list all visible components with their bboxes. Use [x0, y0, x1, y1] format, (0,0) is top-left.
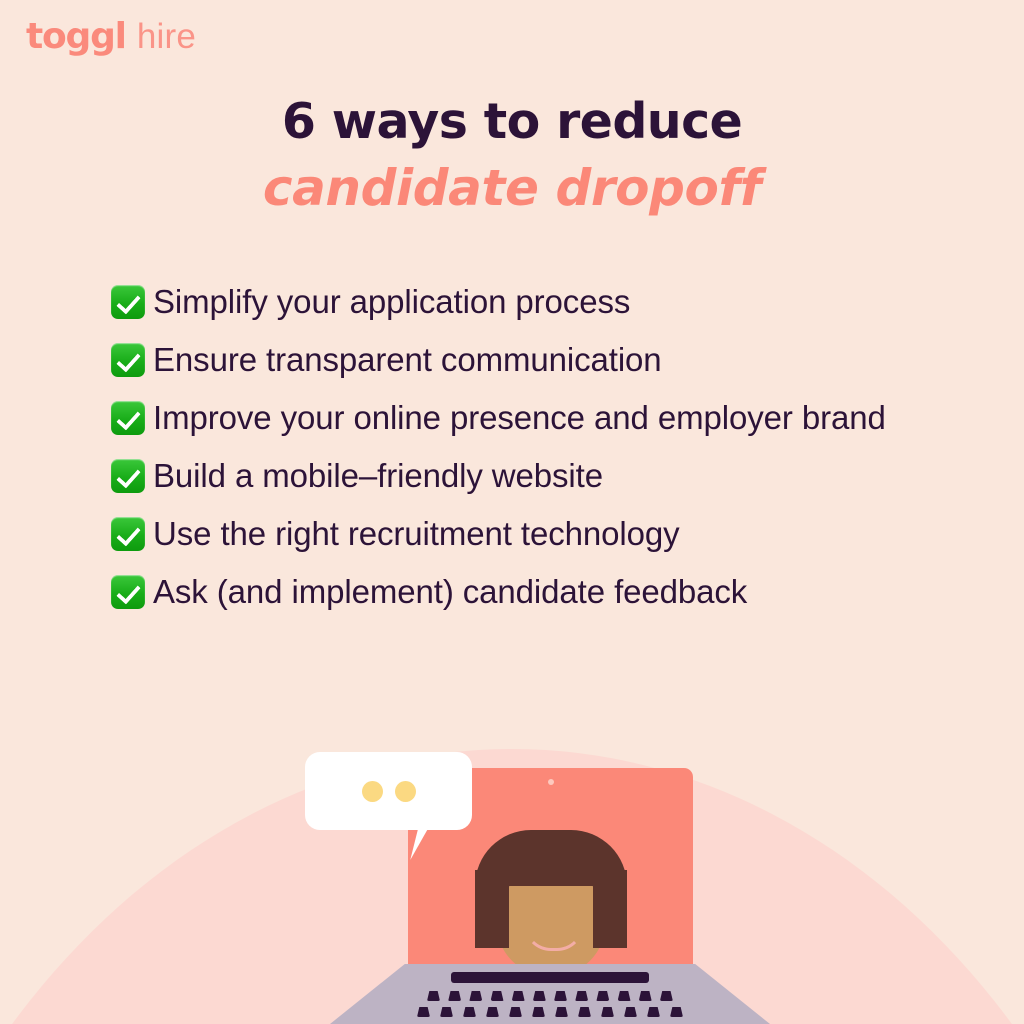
list-item-label: Use the right recruitment technology: [153, 515, 680, 552]
keyboard-key: [469, 991, 482, 1001]
webcam-dot-icon: [548, 779, 554, 785]
poster-canvas: toggl hire 6 ways to reduce candidate dr…: [0, 0, 1024, 1024]
white-check-mark-icon: [111, 517, 145, 551]
keyboard-key: [463, 1007, 476, 1017]
hair-side-left-shape: [475, 870, 509, 948]
white-check-mark-icon: [111, 343, 145, 377]
keyboard-key: [512, 991, 525, 1001]
toggl-hire-logo[interactable]: toggl hire: [26, 19, 196, 55]
keyboard-row: [427, 991, 673, 1001]
keyboard-key: [486, 1007, 499, 1017]
list-item: Ask (and implement) candidate feedback: [111, 573, 951, 612]
list-item: Build a mobile–friendly website: [111, 457, 951, 496]
keyboard-key: [509, 1007, 522, 1017]
keyboard-key: [448, 991, 461, 1001]
keyboard-key: [440, 1007, 453, 1017]
keyboard-key: [596, 991, 609, 1001]
keyboard-key: [554, 991, 567, 1001]
keyboard-key: [639, 991, 652, 1001]
keyboard-key: [624, 1007, 637, 1017]
keyboard-key: [533, 991, 546, 1001]
candidate-avatar: [475, 830, 627, 948]
keyboard-key: [670, 1007, 683, 1017]
hair-side-right-shape: [593, 870, 627, 948]
keyboard-key: [578, 1007, 591, 1017]
keyboard-key: [417, 1007, 430, 1017]
keyboard-key: [491, 991, 504, 1001]
keyboard-key: [427, 991, 440, 1001]
white-check-mark-icon: [111, 285, 145, 319]
list-item-label: Improve your online presence and employe…: [153, 399, 886, 436]
typing-dot-icon: [395, 781, 416, 802]
list-item: Simplify your application process: [111, 283, 951, 322]
logo-wordmark-toggl: toggl: [26, 19, 126, 55]
typing-dot-icon: [362, 781, 383, 802]
keyboard-key: [601, 1007, 614, 1017]
white-check-mark-icon: [111, 575, 145, 609]
checklist: Simplify your application process Ensure…: [111, 283, 951, 612]
title-line-accent: candidate dropoff: [0, 156, 1024, 221]
list-item: Improve your online presence and employe…: [111, 399, 951, 438]
typing-dots: [305, 752, 472, 830]
list-item-label: Ensure transparent communication: [153, 341, 662, 378]
list-item-label: Build a mobile–friendly website: [153, 457, 603, 494]
list-item-label: Simplify your application process: [153, 283, 630, 320]
list-item: Use the right recruitment technology: [111, 515, 951, 554]
keyboard-key: [532, 1007, 545, 1017]
keyboard-row: [417, 1007, 683, 1017]
white-check-mark-icon: [111, 459, 145, 493]
keyboard-key: [660, 991, 673, 1001]
keyboard-key: [555, 1007, 568, 1017]
keyboard-key: [618, 991, 631, 1001]
page-title: 6 ways to reduce candidate dropoff: [0, 92, 1024, 221]
keyboard-spacebar: [451, 972, 649, 983]
list-item: Ensure transparent communication: [111, 341, 951, 380]
title-line-primary: 6 ways to reduce: [0, 92, 1024, 152]
laptop-keyboard-base: [330, 964, 770, 1024]
speech-bubble: [305, 752, 472, 830]
list-item-label: Ask (and implement) candidate feedback: [153, 573, 747, 610]
keyboard-key: [647, 1007, 660, 1017]
white-check-mark-icon: [111, 401, 145, 435]
keyboard-key: [575, 991, 588, 1001]
logo-wordmark-hire: hire: [137, 19, 196, 54]
laptop-video-call-illustration: [0, 740, 1024, 1024]
